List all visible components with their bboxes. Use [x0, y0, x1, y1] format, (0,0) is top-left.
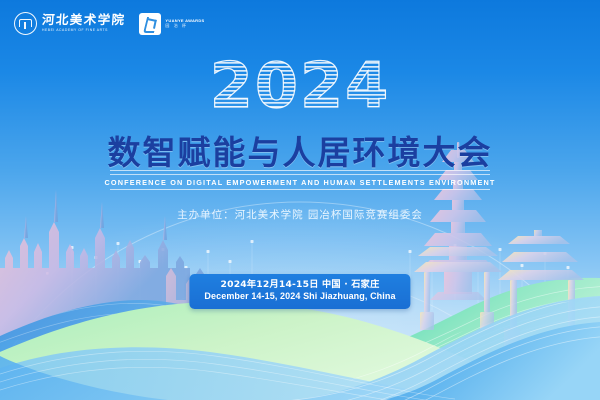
- hero-content: 2024 2024 数智赋能与人居环境大会 CONFERENCE ON DIGI…: [0, 0, 600, 400]
- page-title-en: CONFERENCE ON DIGITAL EMPOWERMENT AND HU…: [0, 175, 600, 189]
- host-line: 主办单位：河北美术学院 园冶杯国际竞赛组委会: [0, 207, 600, 222]
- logo-yuanye-award[interactable]: YUANYE AWARDS 园 冶 杯: [139, 13, 204, 35]
- circular-seal-icon: [14, 12, 37, 35]
- hero-year: 2024 2024: [0, 54, 600, 114]
- date-location-cn: 2024年12月14-15日 中国 · 石家庄: [204, 279, 395, 291]
- logo-bar: 河北美术学院 HEBEI ACADEMY OF FINE ARTS YUANYE…: [14, 12, 205, 35]
- logo-hebei-academy-cn: 河北美术学院: [42, 14, 126, 27]
- conference-poster: 河北美术学院 HEBEI ACADEMY OF FINE ARTS YUANYE…: [0, 0, 600, 400]
- yuanye-leaf-mark-icon: [139, 13, 161, 35]
- logo-hebei-academy[interactable]: 河北美术学院 HEBEI ACADEMY OF FINE ARTS: [14, 12, 125, 35]
- divider-bottom: [110, 189, 490, 190]
- date-location-badge: 2024年12月14-15日 中国 · 石家庄 December 14-15, …: [189, 274, 410, 309]
- title-rules-block: CONFERENCE ON DIGITAL EMPOWERMENT AND HU…: [0, 170, 600, 190]
- logo-yuanye-cn: 园 冶 杯: [165, 24, 204, 29]
- host-names: 河北美术学院 园冶杯国际竞赛组委会: [235, 209, 423, 221]
- svg-text:2024: 2024: [210, 54, 391, 116]
- logo-hebei-academy-en: HEBEI ACADEMY OF FINE ARTS: [42, 29, 125, 32]
- year-2024-striped-text: 2024 2024: [0, 54, 600, 116]
- page-title-cn: 数智赋能与人居环境大会: [0, 126, 600, 174]
- host-label: 主办单位：: [177, 209, 235, 221]
- date-location-en: December 14-15, 2024 Shi Jiazhuang, Chin…: [204, 291, 395, 303]
